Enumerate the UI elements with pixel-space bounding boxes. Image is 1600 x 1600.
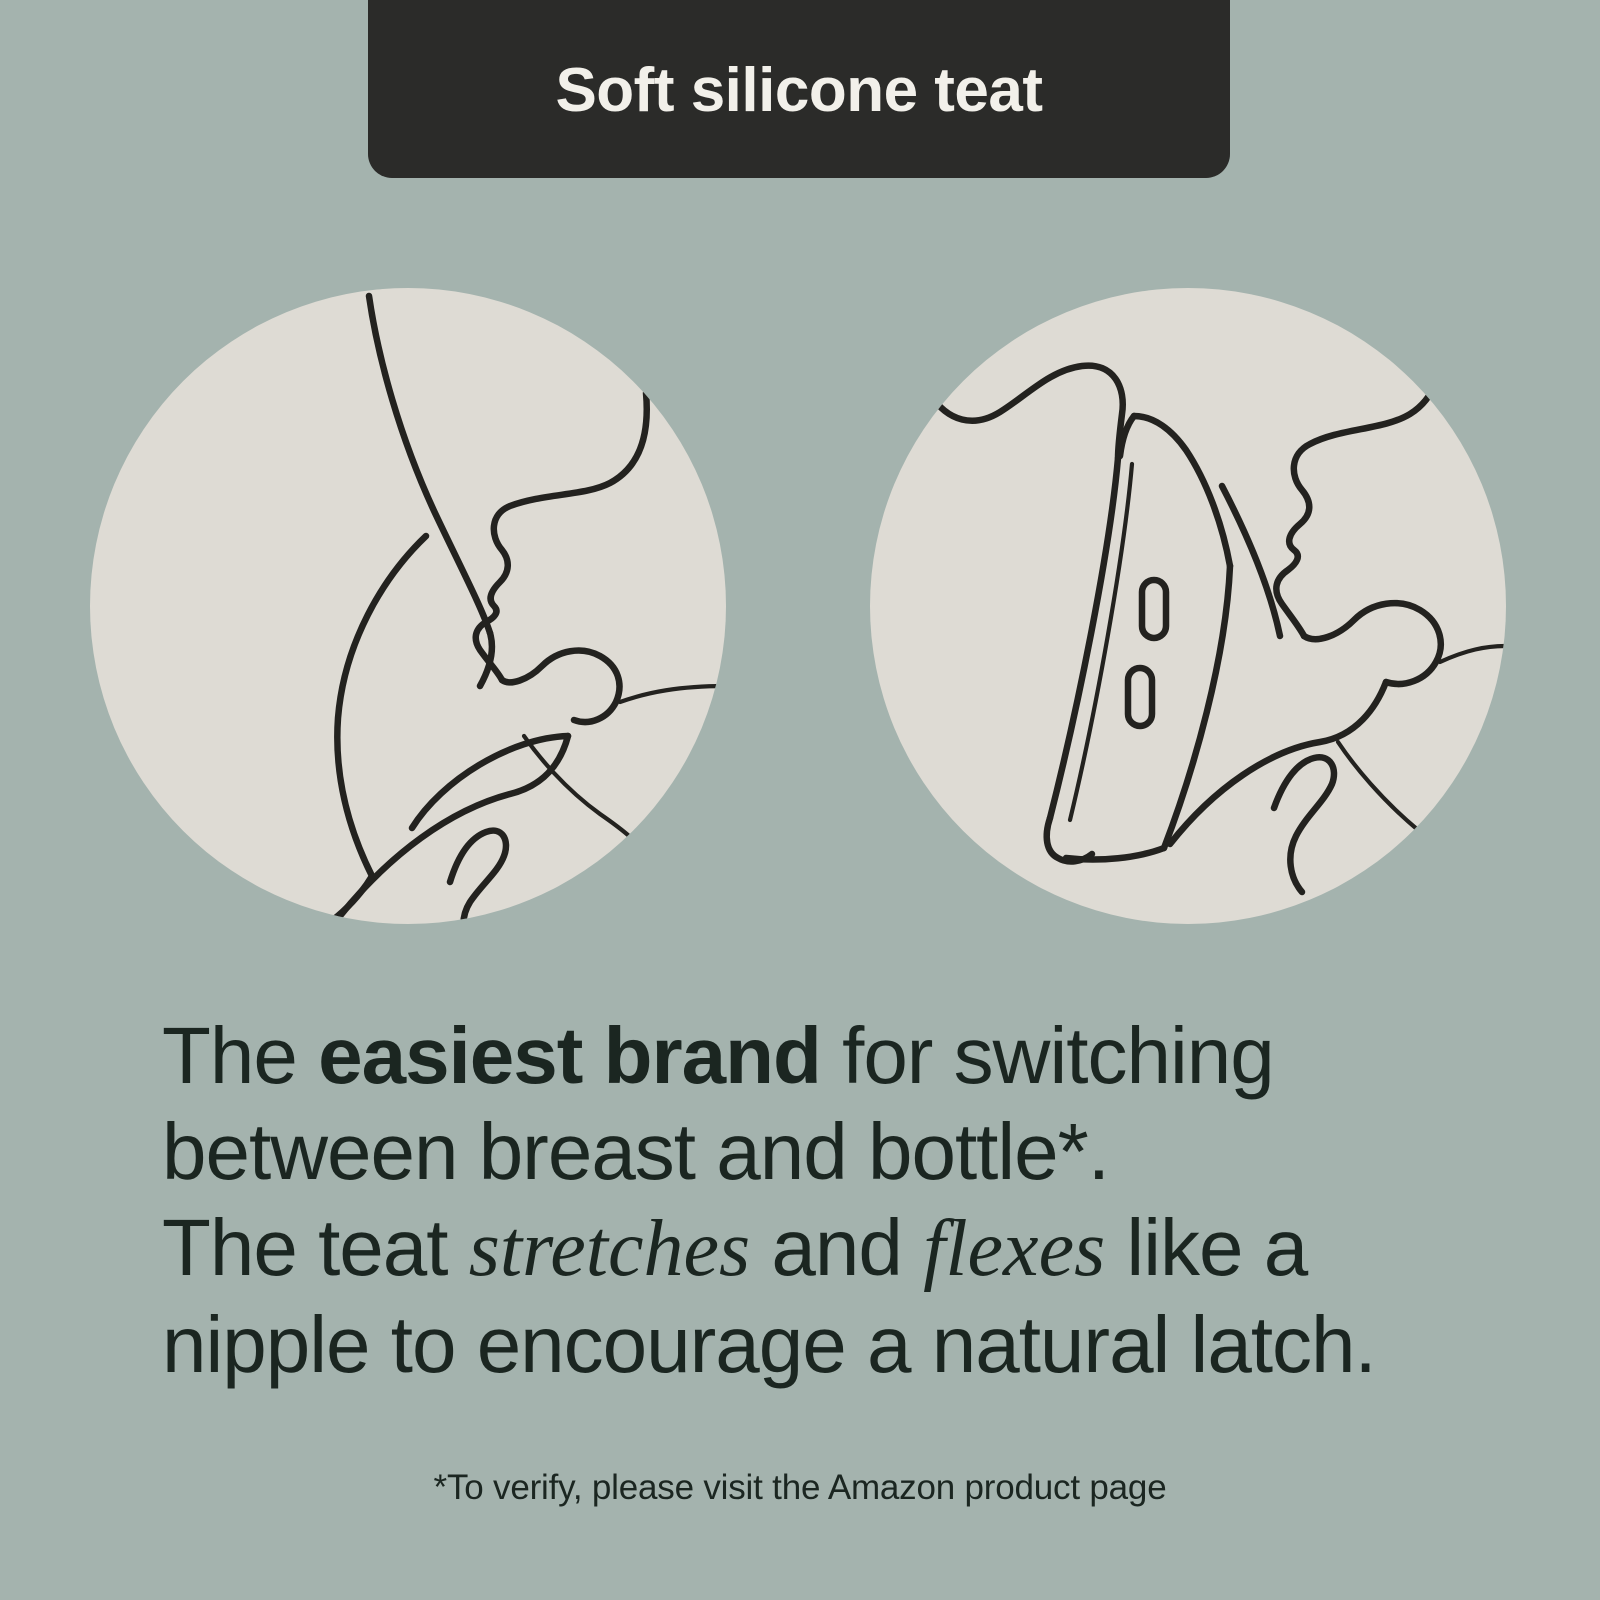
body-line-4: nipple to encourage a natural latch. — [162, 1297, 1482, 1393]
bottle-teat-line-art — [870, 288, 1506, 924]
illustration-row — [0, 288, 1600, 928]
body-line-1: The easiest brand for switching — [162, 1008, 1482, 1104]
body-line-3-part-2: and — [750, 1203, 923, 1292]
breastfeeding-illustration — [90, 288, 726, 924]
header-banner: Soft silicone teat — [368, 0, 1230, 178]
marketing-infographic: Soft silicone teat — [0, 0, 1600, 1600]
footnote-disclaimer: *To verify, please visit the Amazon prod… — [0, 1466, 1600, 1510]
body-line-1-part-2: for switching — [821, 1011, 1274, 1100]
body-line-3-part-1: The teat — [162, 1203, 469, 1292]
bottle-teat-illustration — [870, 288, 1506, 924]
breastfeeding-line-art — [90, 288, 726, 924]
body-line-3-italic-stretches: stretches — [469, 1205, 750, 1293]
body-line-3-italic-flexes: flexes — [923, 1205, 1105, 1293]
page-title: Soft silicone teat — [555, 60, 1042, 122]
body-copy: The easiest brand for switching between … — [162, 1008, 1482, 1393]
body-line-3: The teat stretches and flexes like a — [162, 1200, 1482, 1297]
body-line-2: between breast and bottle*. — [162, 1104, 1482, 1200]
body-line-1-part-1: The — [162, 1011, 318, 1100]
body-line-1-bold: easiest brand — [318, 1011, 821, 1100]
body-line-3-part-3: like a — [1105, 1203, 1307, 1292]
